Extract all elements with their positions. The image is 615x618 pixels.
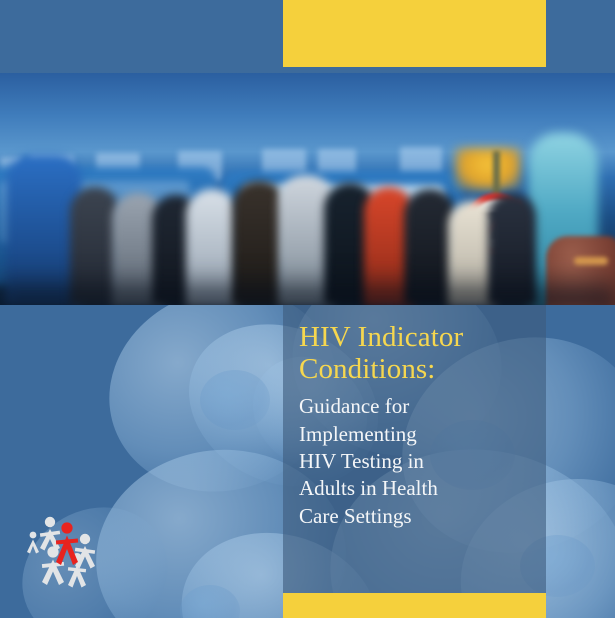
page-subtitle-line: Adults in Health — [299, 475, 528, 502]
page-subtitle-line: Implementing — [299, 421, 528, 448]
page-title-line: Conditions: — [299, 353, 528, 385]
page-subtitle-line: Care Settings — [299, 503, 528, 530]
page-subtitle: Guidance for Implementing HIV Testing in… — [299, 393, 528, 529]
cover-photo — [0, 73, 615, 305]
publication-cover: HIV Indicator Conditions: Guidance for I… — [0, 0, 615, 618]
page-title: HIV Indicator Conditions: — [299, 321, 528, 385]
page-subtitle-line: Guidance for — [299, 393, 528, 420]
red-figure — [56, 522, 78, 565]
page-title-line: HIV Indicator — [299, 321, 528, 353]
top-accent-bar — [283, 0, 546, 67]
traffic-light-icon — [455, 148, 521, 190]
bottom-accent-bar — [283, 593, 546, 618]
page-subtitle-line: HIV Testing in — [299, 448, 528, 475]
title-panel: HIV Indicator Conditions: Guidance for I… — [283, 305, 546, 593]
organisation-logo — [22, 500, 114, 592]
